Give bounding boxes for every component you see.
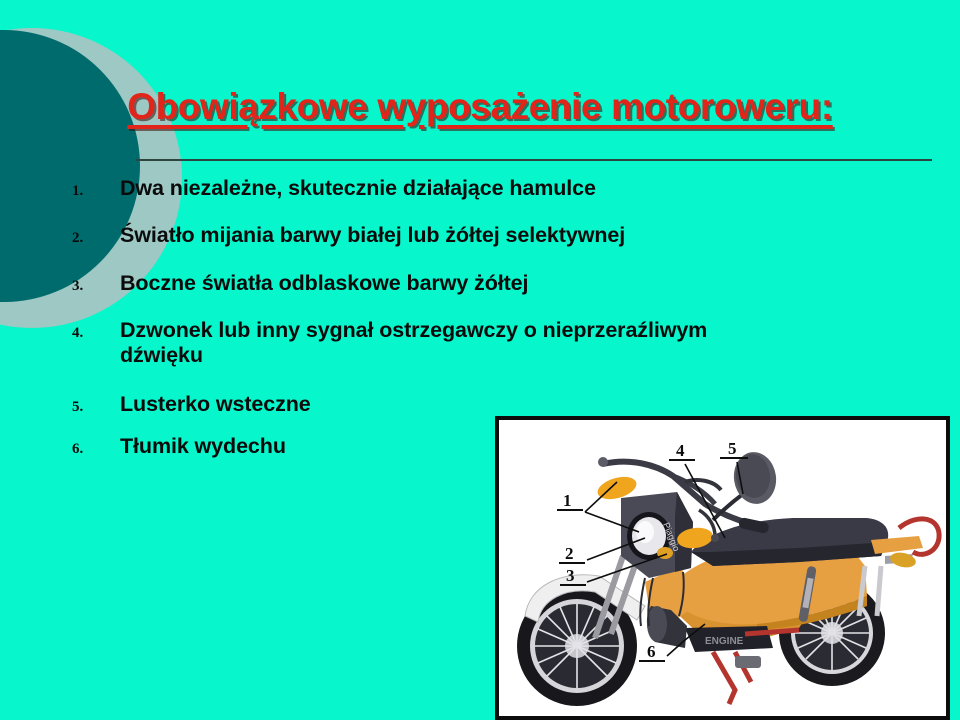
callout-number-1: 1 <box>563 491 572 510</box>
list-item: 4. Dzwonek lub inny sygnał ostrzegawczy … <box>64 318 764 367</box>
list-item-label: Dwa niezależne, skutecznie działające ha… <box>120 176 596 201</box>
callout-number-3: 3 <box>566 566 575 585</box>
list-item-label: Tłumik wydechu <box>120 434 286 459</box>
list-item-label: Boczne światła odblaskowe barwy żółtej <box>120 271 528 296</box>
list-item: 2. Światło mijania barwy białej lub żółt… <box>64 223 764 248</box>
list-item-label: Lusterko wsteczne <box>120 392 311 417</box>
slide-title-container: Obowiązkowe wyposażenie motoroweru: <box>0 86 960 128</box>
list-item-number: 2. <box>64 223 120 247</box>
callout-number-4: 4 <box>676 441 685 460</box>
list-item: 5. Lusterko wsteczne <box>64 392 764 417</box>
list-item-label: Światło mijania barwy białej lub żółtej … <box>120 223 625 248</box>
footpeg <box>735 656 761 668</box>
list-item-number: 6. <box>64 434 120 458</box>
callout-number-6: 6 <box>647 642 656 661</box>
title-divider <box>136 159 932 161</box>
list-item-label: Dzwonek lub inny sygnał ostrzegawczy o n… <box>120 318 740 367</box>
moped-illustration: ENGINE Piaggio <box>499 420 946 716</box>
callout-number-2: 2 <box>565 544 574 563</box>
list-item-number: 1. <box>64 176 120 200</box>
svg-text:ENGINE: ENGINE <box>705 636 744 647</box>
list-item-number: 3. <box>64 271 120 295</box>
list-item-number: 5. <box>64 392 120 416</box>
list-item: 1. Dwa niezależne, skutecznie działające… <box>64 176 764 201</box>
moped-diagram-image: ENGINE Piaggio <box>495 416 950 720</box>
list-item: 3. Boczne światła odblaskowe barwy żółte… <box>64 271 764 296</box>
list-item-number: 4. <box>64 318 120 342</box>
callout-number-5: 5 <box>728 439 737 458</box>
page-title: Obowiązkowe wyposażenie motoroweru: <box>127 86 833 128</box>
